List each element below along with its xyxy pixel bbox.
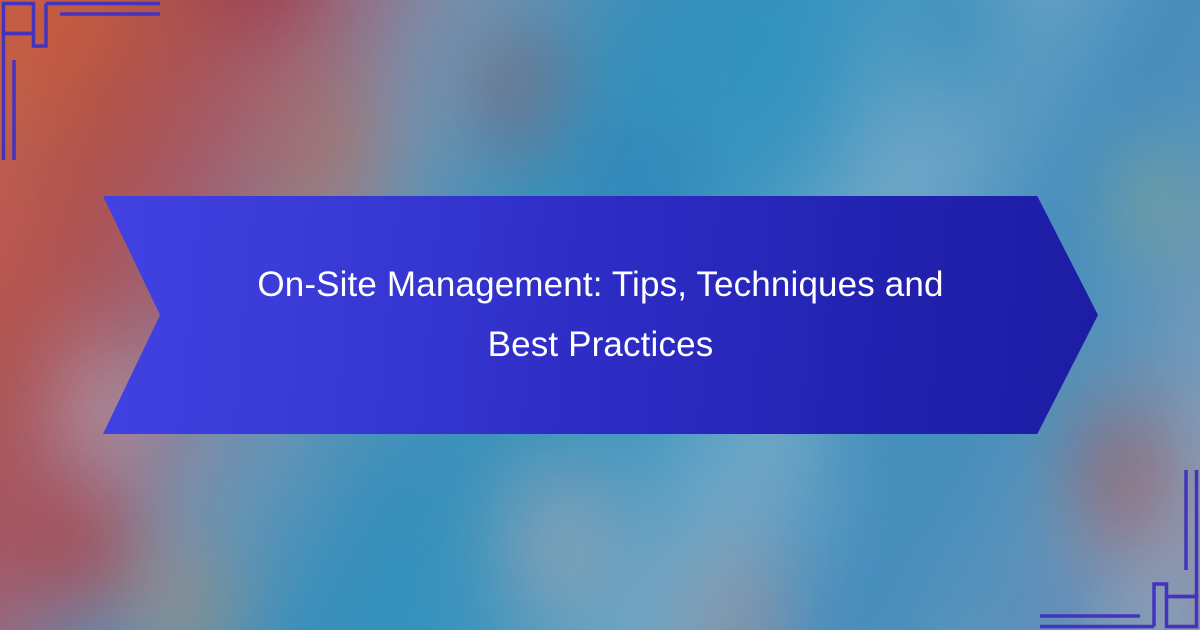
corner-ornament-top-left (0, 0, 160, 160)
title-banner: On-Site Management: Tips, Techniques and… (103, 196, 1098, 434)
corner-bracket-icon (0, 0, 160, 160)
page-title: On-Site Management: Tips, Techniques and… (181, 255, 1021, 375)
poster-canvas: On-Site Management: Tips, Techniques and… (0, 0, 1200, 630)
corner-bracket-icon (1040, 470, 1200, 630)
corner-ornament-bottom-right (1040, 470, 1200, 630)
